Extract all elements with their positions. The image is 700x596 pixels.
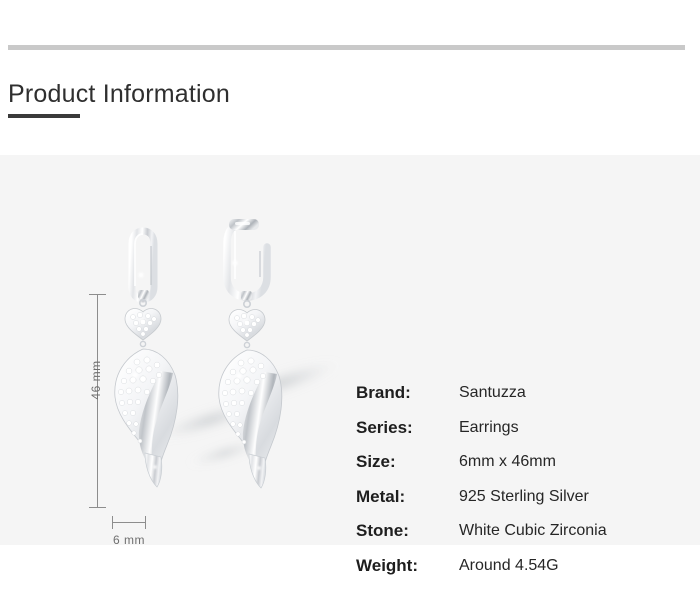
- spec-value-size: 6mm x 46mm: [459, 453, 556, 471]
- spec-value-metal: 925 Sterling Silver: [459, 488, 589, 506]
- page-title-underline: [8, 114, 80, 118]
- spec-label-brand: Brand:: [356, 383, 411, 403]
- spec-label-size: Size:: [356, 452, 396, 472]
- width-dimension-cap-right: [145, 516, 146, 529]
- height-dimension-cap-bottom: [89, 507, 106, 508]
- width-dimension-line: [112, 522, 145, 523]
- height-dimension-label: 46 mm: [89, 340, 103, 420]
- spec-row-metal: Metal: 925 Sterling Silver: [356, 487, 686, 522]
- spec-row-brand: Brand: Santuzza: [356, 383, 686, 418]
- spec-row-series: Series: Earrings: [356, 418, 686, 453]
- width-dimension-cap-left: [112, 516, 113, 529]
- product-figure: 46 mm: [60, 215, 340, 505]
- width-dimension-label: 6 mm: [89, 533, 169, 547]
- spec-label-metal: Metal:: [356, 487, 405, 507]
- spec-value-brand: Santuzza: [459, 384, 526, 402]
- product-spec-list: Brand: Santuzza Series: Earrings Size: 6…: [356, 383, 686, 590]
- spec-label-series: Series:: [356, 418, 413, 438]
- spec-value-series: Earrings: [459, 419, 519, 437]
- product-photo: [105, 215, 340, 505]
- spec-value-stone: White Cubic Zirconia: [459, 522, 607, 540]
- spec-label-stone: Stone:: [356, 521, 409, 541]
- spec-row-weight: Weight: Around 4.54G: [356, 556, 686, 591]
- product-information-panel: 46 mm: [0, 155, 700, 545]
- spec-value-weight: Around 4.54G: [459, 557, 559, 575]
- height-dimension-cap-top: [89, 294, 106, 295]
- spec-label-weight: Weight:: [356, 556, 418, 576]
- top-divider: [8, 45, 685, 50]
- page-title: Product Information: [8, 82, 230, 107]
- spec-row-size: Size: 6mm x 46mm: [356, 452, 686, 487]
- spec-row-stone: Stone: White Cubic Zirconia: [356, 521, 686, 556]
